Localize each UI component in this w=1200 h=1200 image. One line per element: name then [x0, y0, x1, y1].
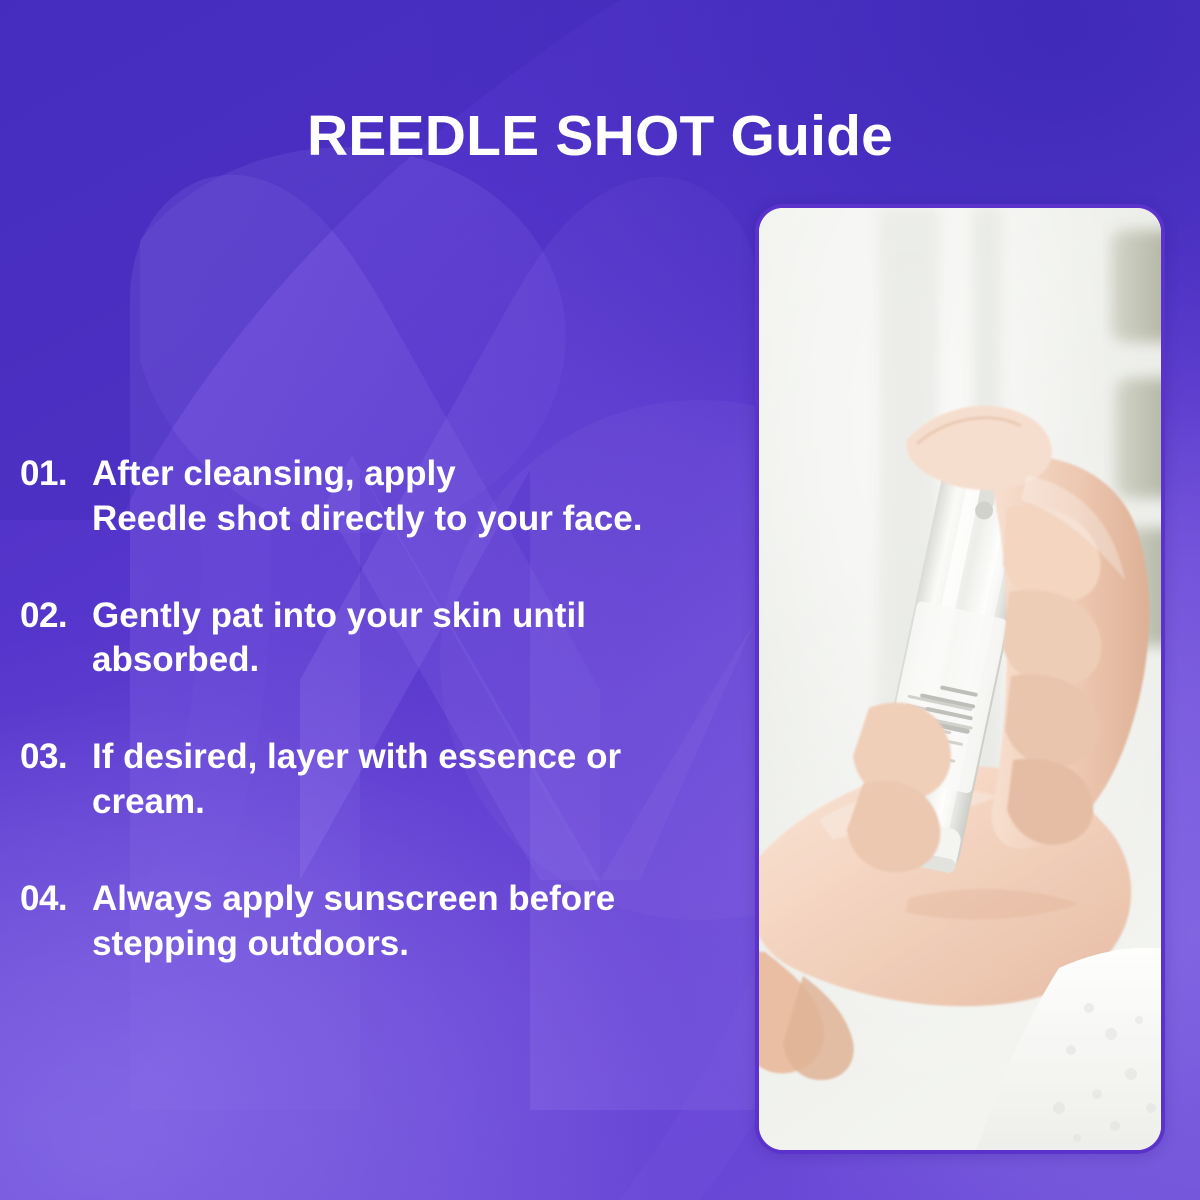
step-number: 04. — [20, 877, 67, 922]
list-item: 04. Always apply sunscreen before steppi… — [20, 877, 730, 967]
step-text-line-1: Gently pat into your skin until — [92, 594, 730, 639]
step-text-line-1: Always apply sunscreen before — [92, 877, 730, 922]
step-text-line-2: cream. — [92, 780, 730, 825]
list-item: 01. After cleansing, apply Reedle shot d… — [20, 452, 730, 542]
step-text-line-2: absorbed. — [92, 638, 730, 683]
list-item: 02. Gently pat into your skin until abso… — [20, 594, 730, 684]
steps-list: 01. After cleansing, apply Reedle shot d… — [20, 452, 730, 966]
product-photo-panel — [755, 204, 1165, 1154]
step-text-line-1: After cleansing, apply — [92, 452, 730, 497]
poster-canvas: REEDLE SHOT Guide 01. After cleansing, a… — [0, 0, 1200, 1200]
step-text-line-2: Reedle shot directly to your face. — [92, 497, 730, 542]
product-photo — [759, 208, 1161, 1150]
step-text-line-1: If desired, layer with essence or — [92, 735, 730, 780]
step-text-line-2: stepping outdoors. — [92, 922, 730, 967]
page-title: REEDLE SHOT Guide — [0, 104, 1200, 170]
step-number: 02. — [20, 594, 67, 639]
step-number: 01. — [20, 452, 67, 497]
step-number: 03. — [20, 735, 67, 780]
list-item: 03. If desired, layer with essence or cr… — [20, 735, 730, 825]
